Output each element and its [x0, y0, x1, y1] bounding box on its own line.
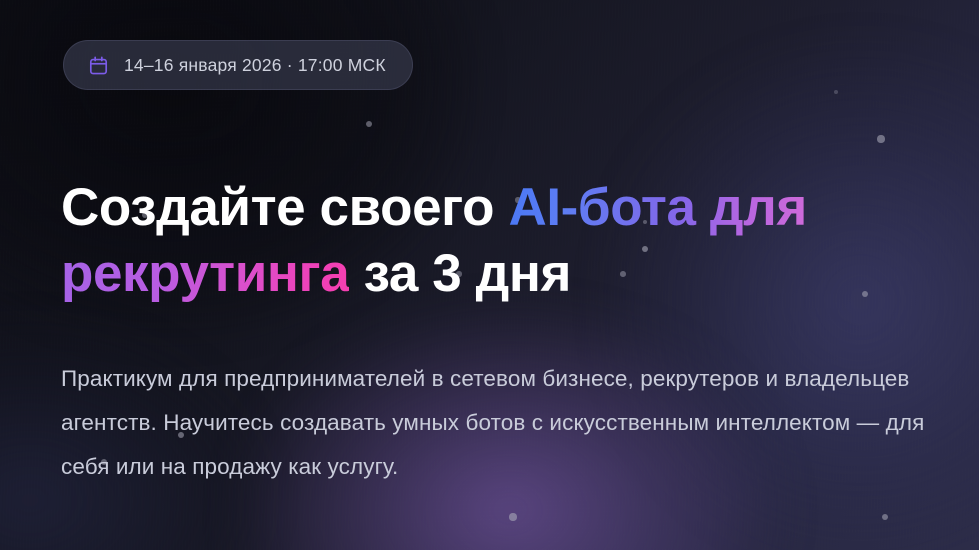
headline-gradient-ai: AI-бота для — [508, 178, 806, 237]
hero-content: 14–16 января 2026 · 17:00 МСК Создайте с… — [0, 0, 979, 550]
headline-plain-2: за 3 дня — [349, 244, 571, 303]
page-title: Создайте своего AI-бота для рекрутинга з… — [61, 175, 921, 307]
date-badge[interactable]: 14–16 января 2026 · 17:00 МСК — [63, 40, 413, 90]
hero-banner: 14–16 января 2026 · 17:00 МСК Создайте с… — [0, 0, 979, 550]
page-subtitle: Практикум для предпринимателей в сетевом… — [61, 357, 951, 489]
headline-plain-1: Создайте своего — [61, 178, 508, 237]
headline-gradient-recruiting: рекрутинга — [61, 244, 349, 303]
calendar-icon — [88, 55, 109, 76]
date-badge-label: 14–16 января 2026 · 17:00 МСК — [124, 55, 386, 76]
